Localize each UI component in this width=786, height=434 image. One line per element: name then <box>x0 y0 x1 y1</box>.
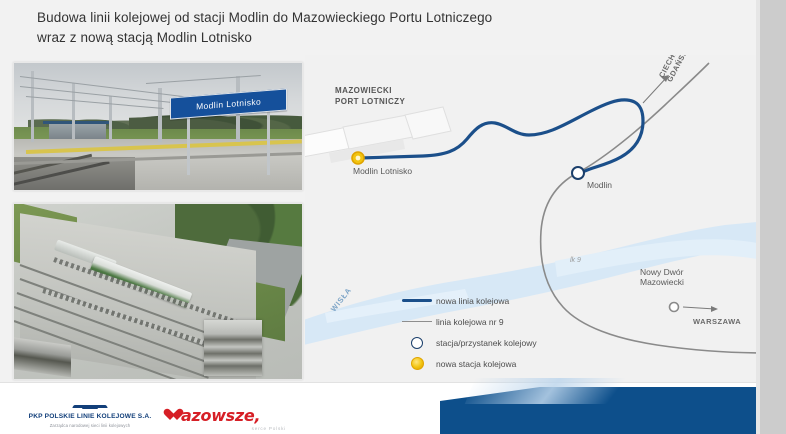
station-sign-text: Modlin Lotnisko <box>196 97 261 112</box>
airport-label-line-2: PORT LOTNICZY <box>335 96 405 107</box>
platform-photo: Modlin Lotnisko <box>13 62 303 191</box>
catenary-pole <box>158 88 162 141</box>
legend-blue-line-icon <box>398 299 436 302</box>
legend-label: linia kolejowa nr 9 <box>436 317 504 327</box>
catenary-pole <box>31 71 34 142</box>
mazowsze-wordmark: azowsze, <box>170 406 290 426</box>
legend-label: nowa stacja kolejowa <box>436 359 516 369</box>
legend-circle-icon <box>398 337 436 349</box>
map-label-lk9: lk 9 <box>570 257 581 264</box>
mazowsze-logo-tagline: serce Polski <box>252 426 286 431</box>
pkp-logo: PKP POLSKIE LINIE KOLEJOWE S.A. Zarządca… <box>26 402 154 428</box>
legend-label: nowa linia kolejowa <box>436 296 509 306</box>
map-label-airport: MAZOWIECKI PORT LOTNICZY <box>335 85 405 107</box>
nowy-dwor-line-1: Nowy Dwór <box>640 267 684 277</box>
station-modlin-marker[interactable] <box>572 167 584 179</box>
sign-post-left <box>187 111 190 175</box>
map-label-modlin: Modlin <box>587 180 612 190</box>
nowy-dwor-line-2: Mazowiecki <box>640 277 684 287</box>
title-line-1: Budowa linii kolejowej od stacji Modlin … <box>37 8 637 28</box>
mazowsze-logo: azowsze, serce Polski <box>170 406 290 426</box>
map-label-warszawa: WARSZAWA <box>693 317 741 326</box>
existing-railway-line-north <box>581 63 709 171</box>
sign-post-right <box>267 109 270 175</box>
slide-root: Budowa linii kolejowej od stacji Modlin … <box>0 0 786 434</box>
right-letterbox-band <box>760 0 786 434</box>
route-map: MAZOWIECKI PORT LOTNICZY Modlin Lotnisko… <box>305 55 757 385</box>
pkp-logo-name: PKP POLSKIE LINIE KOLEJOWE S.A. <box>26 413 154 420</box>
map-legend: nowa linia kolejowa linia kolejowa nr 9 … <box>398 290 537 374</box>
legend-item-new-station: nowa stacja kolejowa <box>398 353 537 374</box>
legend-label: stacja/przystanek kolejowy <box>436 338 537 348</box>
yard-building <box>204 320 262 376</box>
rail-yard-photo <box>13 203 303 380</box>
photo-shelter <box>49 124 107 139</box>
legend-item-station: stacja/przystanek kolejowy <box>398 332 537 353</box>
photo-canopy <box>43 121 112 124</box>
station-nowy-dwor-marker[interactable] <box>670 303 679 312</box>
legend-grey-line-icon <box>398 321 436 323</box>
legend-dot-icon <box>398 357 436 370</box>
direction-arrow-warszawa <box>683 306 718 312</box>
station-modlin-lotnisko-core <box>356 156 361 161</box>
page-title: Budowa linii kolejowej od stacji Modlin … <box>37 8 637 48</box>
pkp-logo-tagline: Zarządca narodowej sieci linii kolejowyc… <box>26 423 154 428</box>
title-line-2: wraz z nową stacją Modlin Lotnisko <box>37 28 637 48</box>
map-label-modlin-lotnisko: Modlin Lotnisko <box>353 166 412 176</box>
footer-divider <box>0 382 760 383</box>
airport-label-line-1: MAZOWIECKI <box>335 85 405 96</box>
legend-item-new-line: nowa linia kolejowa <box>398 290 537 311</box>
map-label-nowy-dwor: Nowy Dwór Mazowiecki <box>640 267 684 287</box>
legend-item-existing-line: linia kolejowa nr 9 <box>398 311 537 332</box>
mazowsze-logo-name: azowsze, <box>181 406 260 425</box>
pkp-wing-icon <box>73 402 107 411</box>
